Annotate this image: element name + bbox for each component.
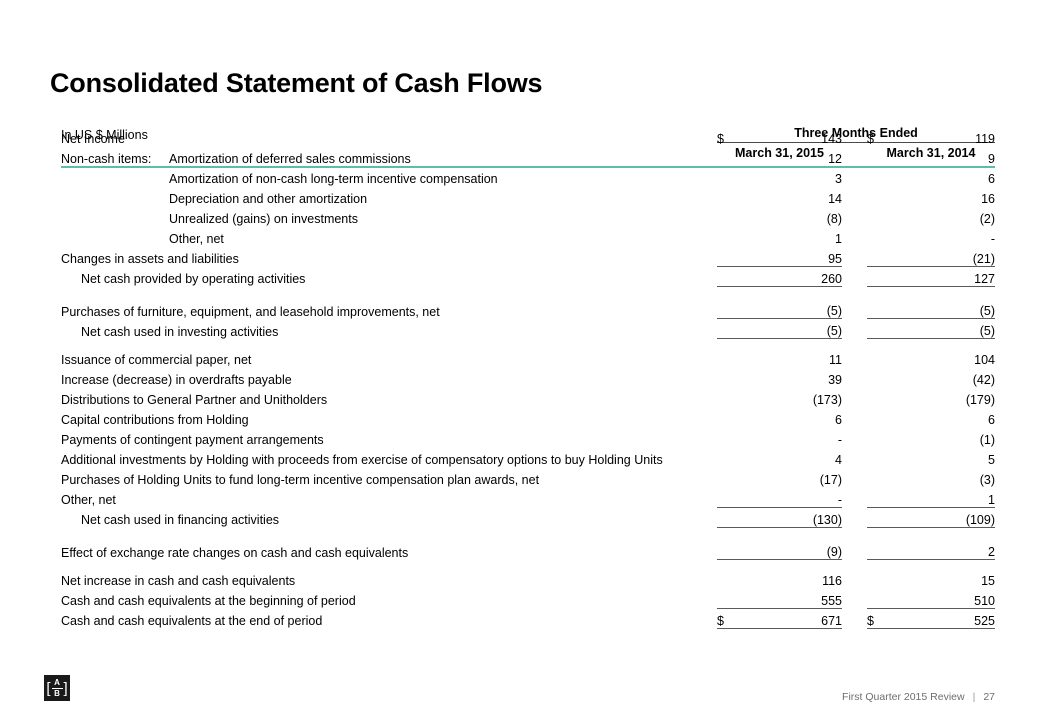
section-spacer (61, 560, 995, 569)
table-row: Unrealized (gains) on investments (8) (2… (61, 206, 995, 226)
row-col2-value: - (897, 226, 995, 246)
table-row: Other, net - 1 (61, 487, 995, 507)
row-gap (842, 166, 867, 186)
row-col1-currency (717, 447, 747, 467)
table-row: Purchases of furniture, equipment, and l… (61, 299, 995, 319)
row-gap (842, 347, 867, 367)
row-col2-currency (867, 266, 897, 286)
row-col1-currency (717, 186, 747, 206)
row-label: Effect of exchange rate changes on cash … (61, 540, 717, 560)
row-col2-currency (867, 347, 897, 367)
table-row-subtotal: Net cash used in financing activities (1… (61, 507, 995, 527)
row-col2-currency (867, 447, 897, 467)
table-row: Additional investments by Holding with p… (61, 447, 995, 467)
row-label: Net cash provided by operating activitie… (61, 266, 717, 286)
row-col2-value: 9 (897, 146, 995, 166)
row-col2-currency (867, 467, 897, 487)
row-col1-value: 3 (747, 166, 842, 186)
table-row: Net increase in cash and cash equivalent… (61, 568, 995, 588)
row-gap (842, 319, 867, 339)
row-col1-currency (717, 206, 747, 226)
row-col1-value: 95 (747, 246, 842, 266)
table-row-subtotal: Net cash used in investing activities (5… (61, 319, 995, 339)
row-label: Net Income (61, 126, 717, 146)
row-col2-value: (2) (897, 206, 995, 226)
row-col1-currency (717, 467, 747, 487)
row-gap (842, 126, 867, 146)
row-label: Amortization of non-cash long-term incen… (61, 166, 717, 186)
row-col1-currency (717, 540, 747, 560)
row-label: Changes in assets and liabilities (61, 246, 717, 266)
row-label-text: Other, net (169, 232, 224, 246)
row-col1-value: (9) (747, 540, 842, 560)
row-gap (842, 226, 867, 246)
row-col1-currency (717, 226, 747, 246)
row-gap (842, 507, 867, 527)
row-col2-currency: $ (867, 608, 897, 628)
row-label: Net cash used in investing activities (61, 319, 717, 339)
row-col1-currency (717, 367, 747, 387)
row-gap (842, 608, 867, 628)
logo-letter-b: B (54, 689, 60, 698)
row-col2-value: 525 (897, 608, 995, 628)
row-col2-currency (867, 226, 897, 246)
table-row: Distributions to General Partner and Uni… (61, 387, 995, 407)
table-row: Purchases of Holding Units to fund long-… (61, 467, 995, 487)
row-col1-currency (717, 166, 747, 186)
row-col2-currency (867, 588, 897, 608)
row-label-text: Unrealized (gains) on investments (169, 212, 358, 226)
row-col1-currency (717, 146, 747, 166)
row-gap (842, 146, 867, 166)
row-col2-currency (867, 387, 897, 407)
row-col1-value: (130) (747, 507, 842, 527)
row-label: Cash and cash equivalents at the beginni… (61, 588, 717, 608)
ab-logo-icon: [ A B ] (44, 675, 70, 701)
row-col2-value: 15 (897, 568, 995, 588)
row-col2-value: (42) (897, 367, 995, 387)
row-gap (842, 186, 867, 206)
table-row-subtotal: Net cash provided by operating activitie… (61, 266, 995, 286)
row-col2-value: 1 (897, 487, 995, 507)
row-col2-value: (3) (897, 467, 995, 487)
row-col1-value: 1 (747, 226, 842, 246)
row-label: Unrealized (gains) on investments (61, 206, 717, 226)
row-gap (842, 367, 867, 387)
row-col2-value: (179) (897, 387, 995, 407)
row-col1-value: 671 (747, 608, 842, 628)
row-col1-value: 39 (747, 367, 842, 387)
row-col2-value: (1) (897, 427, 995, 447)
table-row: Issuance of commercial paper, net 11 104 (61, 347, 995, 367)
cash-flow-table: Net Income $ 143 $ 119 Non-cash items:Am… (61, 126, 995, 629)
row-col2-currency (867, 487, 897, 507)
table-row: Amortization of non-cash long-term incen… (61, 166, 995, 186)
row-col1-value: 555 (747, 588, 842, 608)
row-col1-value: 116 (747, 568, 842, 588)
row-label: Issuance of commercial paper, net (61, 347, 717, 367)
row-col1-value: (5) (747, 299, 842, 319)
table-row: Net Income $ 143 $ 119 (61, 126, 995, 146)
row-col1-value: 6 (747, 407, 842, 427)
row-col1-currency (717, 568, 747, 588)
row-col2-value: 6 (897, 166, 995, 186)
row-gap (842, 299, 867, 319)
row-gap (842, 568, 867, 588)
row-label-text: Depreciation and other amortization (169, 192, 367, 206)
row-gap (842, 467, 867, 487)
row-col1-currency (717, 588, 747, 608)
row-col2-value: 6 (897, 407, 995, 427)
row-col2-currency (867, 568, 897, 588)
section-spacer (61, 527, 995, 540)
row-gap (842, 387, 867, 407)
row-col1-currency (717, 507, 747, 527)
row-col2-value: (21) (897, 246, 995, 266)
row-col2-value: 5 (897, 447, 995, 467)
row-label: Purchases of Holding Units to fund long-… (61, 467, 717, 487)
row-col1-value: - (747, 487, 842, 507)
table-row: Effect of exchange rate changes on cash … (61, 540, 995, 560)
row-gap (842, 206, 867, 226)
row-col2-value: 119 (897, 126, 995, 146)
row-col2-value: 127 (897, 266, 995, 286)
row-group-tag: Non-cash items: (61, 152, 169, 166)
table-row: Changes in assets and liabilities 95 (21… (61, 246, 995, 266)
row-col2-value: (5) (897, 319, 995, 339)
row-col1-value: (8) (747, 206, 842, 226)
table-row: Cash and cash equivalents at the beginni… (61, 588, 995, 608)
page-title: Consolidated Statement of Cash Flows (50, 68, 542, 99)
row-col2-currency (867, 540, 897, 560)
row-col2-currency (867, 246, 897, 266)
row-label: Net increase in cash and cash equivalent… (61, 568, 717, 588)
row-col1-value: 143 (747, 126, 842, 146)
slide-canvas: Consolidated Statement of Cash Flows In … (0, 0, 1039, 720)
row-col1-currency: $ (717, 608, 747, 628)
row-col2-value: 2 (897, 540, 995, 560)
table-row: Payments of contingent payment arrangeme… (61, 427, 995, 447)
row-gap (842, 427, 867, 447)
row-col2-currency (867, 186, 897, 206)
row-col2-currency (867, 319, 897, 339)
row-label: Depreciation and other amortization (61, 186, 717, 206)
row-col1-currency (717, 347, 747, 367)
table-row: Other, net 1 - (61, 226, 995, 246)
row-label-text: Amortization of non-cash long-term incen… (169, 172, 498, 186)
row-col1-currency (717, 246, 747, 266)
row-col1-value: 14 (747, 186, 842, 206)
row-label: Payments of contingent payment arrangeme… (61, 427, 717, 447)
footer-page-number: 27 (983, 691, 995, 703)
row-col1-currency (717, 407, 747, 427)
logo-right-bracket: ] (63, 681, 69, 696)
row-col2-currency (867, 407, 897, 427)
section-spacer (61, 339, 995, 348)
row-col2-value: (109) (897, 507, 995, 527)
row-col1-currency (717, 487, 747, 507)
row-label: Other, net (61, 226, 717, 246)
row-col1-value: (173) (747, 387, 842, 407)
row-col2-value: 16 (897, 186, 995, 206)
row-label: Distributions to General Partner and Uni… (61, 387, 717, 407)
row-label-text: Amortization of deferred sales commissio… (169, 152, 411, 166)
row-label: Capital contributions from Holding (61, 407, 717, 427)
row-gap (842, 447, 867, 467)
logo-letter-a: A (54, 679, 60, 688)
row-col2-currency (867, 367, 897, 387)
table-row-total: Cash and cash equivalents at the end of … (61, 608, 995, 628)
row-gap (842, 588, 867, 608)
row-col1-value: 4 (747, 447, 842, 467)
row-col2-currency (867, 299, 897, 319)
row-col1-value: (5) (747, 319, 842, 339)
table-row: Depreciation and other amortization 14 1… (61, 186, 995, 206)
row-col2-currency (867, 166, 897, 186)
row-col2-value: 510 (897, 588, 995, 608)
row-col2-currency (867, 206, 897, 226)
row-gap (842, 266, 867, 286)
row-label: Cash and cash equivalents at the end of … (61, 608, 717, 628)
row-col1-value: (17) (747, 467, 842, 487)
row-col1-currency (717, 319, 747, 339)
footer-deck-title: First Quarter 2015 Review (842, 691, 965, 703)
row-label: Net cash used in financing activities (61, 507, 717, 527)
row-col1-currency (717, 266, 747, 286)
row-col2-value: (5) (897, 299, 995, 319)
table-row: Increase (decrease) in overdrafts payabl… (61, 367, 995, 387)
slide-footer: First Quarter 2015 Review | 27 (842, 691, 995, 703)
row-col1-currency: $ (717, 126, 747, 146)
table-row: Non-cash items:Amortization of deferred … (61, 146, 995, 166)
row-col1-value: - (747, 427, 842, 447)
row-gap (842, 246, 867, 266)
row-col2-currency (867, 427, 897, 447)
row-label: Additional investments by Holding with p… (61, 447, 717, 467)
row-col1-currency (717, 427, 747, 447)
row-label: Purchases of furniture, equipment, and l… (61, 299, 717, 319)
footer-separator: | (973, 691, 976, 703)
row-col1-currency (717, 387, 747, 407)
row-col2-currency (867, 146, 897, 166)
row-gap (842, 540, 867, 560)
row-col1-value: 11 (747, 347, 842, 367)
table-row: Capital contributions from Holding 6 6 (61, 407, 995, 427)
row-col2-currency (867, 507, 897, 527)
row-col1-currency (717, 299, 747, 319)
row-gap (842, 407, 867, 427)
row-col1-value: 12 (747, 146, 842, 166)
row-col2-value: 104 (897, 347, 995, 367)
row-label: Non-cash items:Amortization of deferred … (61, 146, 717, 166)
section-spacer (61, 286, 995, 299)
row-col2-currency: $ (867, 126, 897, 146)
row-gap (842, 487, 867, 507)
row-label: Other, net (61, 487, 717, 507)
row-label: Increase (decrease) in overdrafts payabl… (61, 367, 717, 387)
row-col1-value: 260 (747, 266, 842, 286)
